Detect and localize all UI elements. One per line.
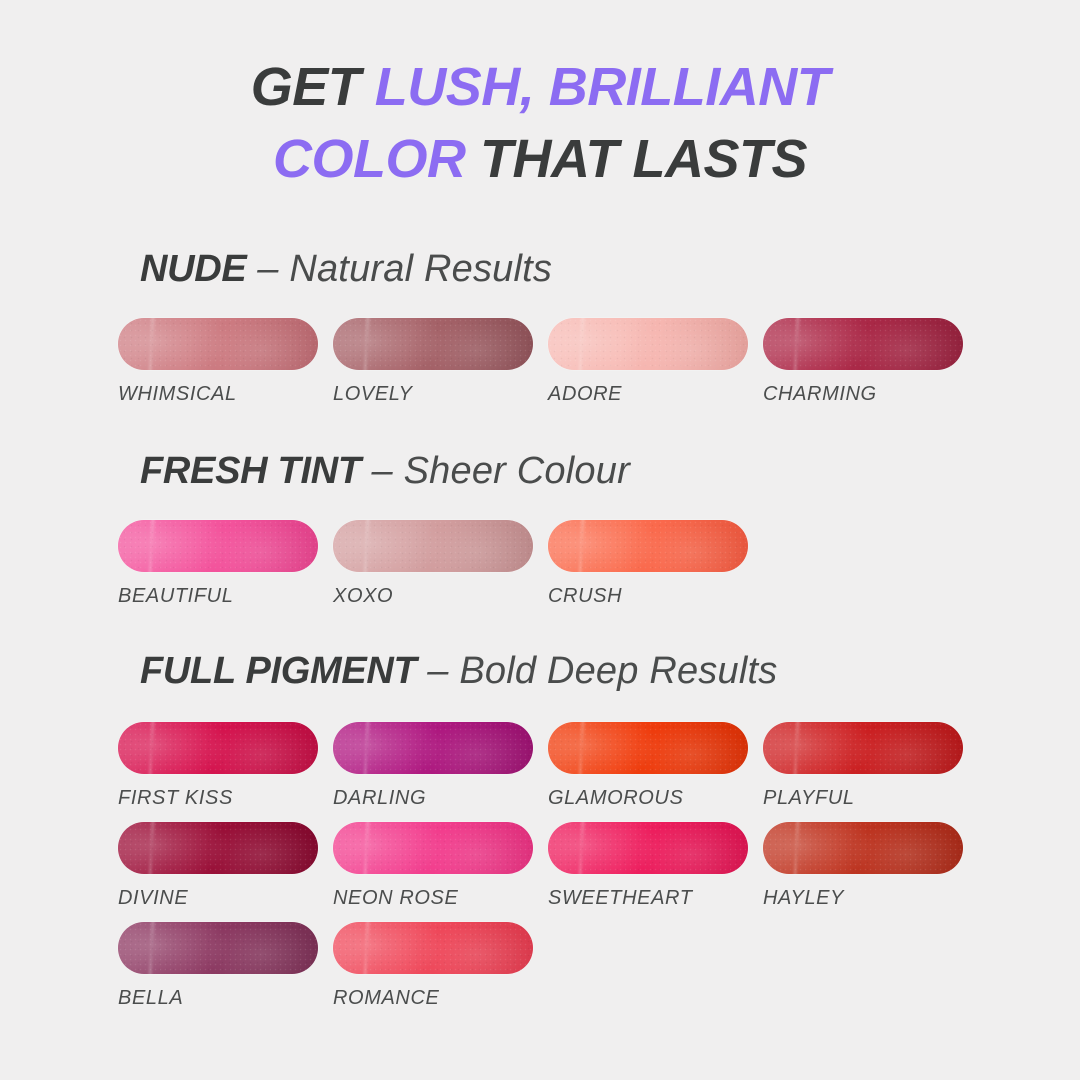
swatch-label: DARLING <box>333 787 533 810</box>
swatch-label: ROMANCE <box>333 987 533 1010</box>
swatch-label: FIRST KISS <box>118 787 318 810</box>
swatch-label: BELLA <box>118 987 318 1010</box>
color-swatch[interactable] <box>118 822 318 874</box>
swatch-cell-playful[interactable]: PLAYFUL <box>763 722 963 810</box>
swatch-texture <box>333 822 533 874</box>
swatch-label: CHARMING <box>763 383 963 406</box>
color-swatch[interactable] <box>118 520 318 572</box>
swatch-label: HAYLEY <box>763 887 963 910</box>
swatch-texture <box>763 822 963 874</box>
section-heading-name: FRESH TINT <box>140 450 361 492</box>
swatch-texture <box>548 822 748 874</box>
swatch-label: WHIMSICAL <box>118 383 318 406</box>
swatch-row: DIVINENEON ROSESWEETHEARTHAYLEY <box>0 822 1080 922</box>
swatch-cell-adore[interactable]: ADORE <box>548 318 748 406</box>
swatch-row: FIRST KISSDARLINGGLAMOROUSPLAYFUL <box>0 722 1080 822</box>
swatch-cell-charming[interactable]: CHARMING <box>763 318 963 406</box>
swatch-texture <box>118 520 318 572</box>
color-swatch[interactable] <box>333 922 533 974</box>
swatch-label: XOXO <box>333 585 533 608</box>
lipstick-shade-chart: GET LUSH, BRILLIANT COLOR THAT LASTS NUD… <box>0 0 1080 1080</box>
swatch-label: CRUSH <box>548 585 748 608</box>
color-swatch[interactable] <box>548 822 748 874</box>
swatch-label: DIVINE <box>118 887 318 910</box>
swatch-cell-hayley[interactable]: HAYLEY <box>763 822 963 910</box>
section-heading-name: FULL PIGMENT <box>140 650 416 692</box>
color-swatch[interactable] <box>548 722 748 774</box>
color-swatch[interactable] <box>763 318 963 370</box>
headline-line-2-dark: THAT LASTS <box>480 129 807 189</box>
swatch-cell-beautiful[interactable]: BEAUTIFUL <box>118 520 318 608</box>
headline-line-2: COLOR THAT LASTS <box>0 124 1080 196</box>
color-swatch[interactable] <box>118 318 318 370</box>
swatch-cell-sweetheart[interactable]: SWEETHEART <box>548 822 748 910</box>
swatch-cell-xoxo[interactable]: XOXO <box>333 520 533 608</box>
swatch-texture <box>333 922 533 974</box>
headline-line-1-dark: GET <box>251 57 375 117</box>
section-heading-fresh-tint: FRESH TINT – Sheer Colour <box>140 450 630 493</box>
swatch-texture <box>333 318 533 370</box>
section-heading-subtitle: – Sheer Colour <box>361 450 630 492</box>
color-swatch[interactable] <box>333 318 533 370</box>
swatch-texture <box>548 318 748 370</box>
headline-line-2-accent: COLOR <box>273 129 480 189</box>
swatch-label: ADORE <box>548 383 748 406</box>
section-heading-full-pigment: FULL PIGMENT – Bold Deep Results <box>140 650 777 693</box>
swatch-label: PLAYFUL <box>763 787 963 810</box>
color-swatch[interactable] <box>548 520 748 572</box>
color-swatch[interactable] <box>333 520 533 572</box>
swatch-texture <box>763 318 963 370</box>
swatch-texture <box>548 722 748 774</box>
section-heading-subtitle: – Bold Deep Results <box>416 650 777 692</box>
swatch-cell-darling[interactable]: DARLING <box>333 722 533 810</box>
section-heading-name: NUDE <box>140 248 246 290</box>
swatch-cell-crush[interactable]: CRUSH <box>548 520 748 608</box>
swatch-cell-neon-rose[interactable]: NEON ROSE <box>333 822 533 910</box>
swatch-texture <box>333 722 533 774</box>
swatch-cell-lovely[interactable]: LOVELY <box>333 318 533 406</box>
headline-line-1: GET LUSH, BRILLIANT <box>0 52 1080 124</box>
color-swatch[interactable] <box>333 722 533 774</box>
swatch-label: LOVELY <box>333 383 533 406</box>
section-heading-nude: NUDE – Natural Results <box>140 248 552 291</box>
color-swatch[interactable] <box>118 922 318 974</box>
swatch-label: BEAUTIFUL <box>118 585 318 608</box>
swatch-texture <box>118 318 318 370</box>
page-title: GET LUSH, BRILLIANT COLOR THAT LASTS <box>0 52 1080 196</box>
swatch-row: BELLAROMANCE <box>0 922 1080 1022</box>
section-heading-subtitle: – Natural Results <box>246 248 552 290</box>
swatch-cell-first-kiss[interactable]: FIRST KISS <box>118 722 318 810</box>
swatch-texture <box>118 722 318 774</box>
swatch-row: BEAUTIFULXOXOCRUSH <box>0 520 1080 620</box>
swatch-cell-bella[interactable]: BELLA <box>118 922 318 1010</box>
headline-line-1-accent: LUSH, BRILLIANT <box>375 57 829 117</box>
swatch-cell-glamorous[interactable]: GLAMOROUS <box>548 722 748 810</box>
swatch-texture <box>118 922 318 974</box>
swatch-label: SWEETHEART <box>548 887 748 910</box>
swatch-texture <box>548 520 748 572</box>
swatch-cell-divine[interactable]: DIVINE <box>118 822 318 910</box>
swatch-texture <box>118 822 318 874</box>
swatch-row: WHIMSICALLOVELYADORECHARMING <box>0 318 1080 418</box>
swatch-cell-romance[interactable]: ROMANCE <box>333 922 533 1010</box>
color-swatch[interactable] <box>548 318 748 370</box>
color-swatch[interactable] <box>763 722 963 774</box>
swatch-cell-whimsical[interactable]: WHIMSICAL <box>118 318 318 406</box>
color-swatch[interactable] <box>763 822 963 874</box>
swatch-label: NEON ROSE <box>333 887 533 910</box>
swatch-label: GLAMOROUS <box>548 787 748 810</box>
color-swatch[interactable] <box>118 722 318 774</box>
swatch-texture <box>763 722 963 774</box>
swatch-texture <box>333 520 533 572</box>
color-swatch[interactable] <box>333 822 533 874</box>
